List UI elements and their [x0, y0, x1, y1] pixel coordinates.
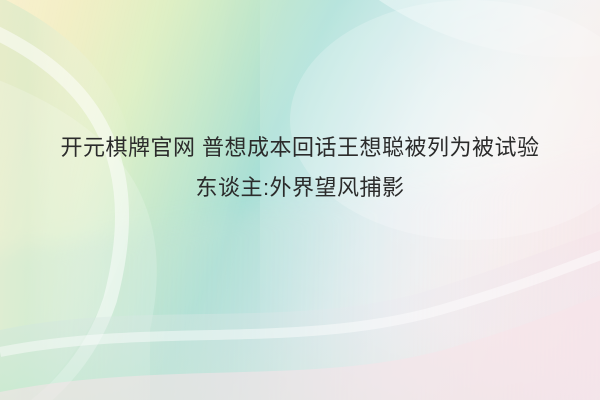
headline-block: 开元棋牌官网 普想成本回话王想聪被列为被试验 东谈主:外界望风捕影 — [0, 0, 600, 400]
decorative-banner: 开元棋牌官网 普想成本回话王想聪被列为被试验 东谈主:外界望风捕影 — [0, 0, 600, 400]
headline-line-1: 开元棋牌官网 普想成本回话王想聪被列为被试验 — [20, 128, 580, 168]
headline-line-2: 东谈主:外界望风捕影 — [20, 168, 580, 208]
